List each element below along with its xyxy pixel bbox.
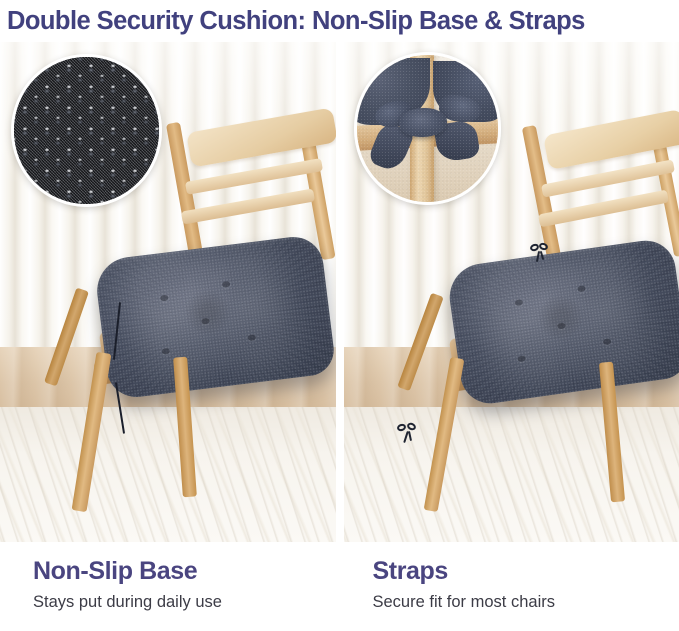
carpet: [344, 407, 679, 542]
page-title-bar: Double Security Cushion: Non-Slip Base &…: [0, 0, 679, 42]
caption-non-slip-base: Non-Slip Base Stays put during daily use: [0, 545, 340, 631]
left-scene: [0, 42, 336, 542]
right-scene: [344, 42, 679, 542]
caption-subtext: Stays put during daily use: [33, 590, 340, 614]
fabric-texture: [357, 55, 499, 202]
straps-panel: [344, 42, 679, 542]
product-infographic: Double Security Cushion: Non-Slip Base &…: [0, 0, 679, 631]
strap-tie-closeup: [354, 52, 502, 205]
caption-subtext: Secure fit for most chairs: [373, 590, 679, 614]
cushion-tuft: [514, 299, 523, 306]
seat-cushion: [93, 234, 336, 401]
bow-loop: [396, 423, 407, 432]
cushion-tuft: [603, 339, 612, 346]
panels-row: [0, 42, 679, 542]
cushion-tuft: [159, 295, 168, 302]
cushion-tuft: [201, 318, 210, 325]
caption-heading: Non-Slip Base: [33, 554, 340, 588]
bow-tail: [408, 431, 412, 441]
cushion-tuft: [247, 335, 256, 342]
bow-loop: [538, 242, 549, 252]
cushion-tuft: [161, 348, 170, 355]
cushion-tuft: [577, 286, 586, 293]
strap-bow-right: [397, 422, 419, 438]
carpet: [0, 407, 336, 542]
caption-heading: Straps: [373, 554, 679, 588]
strap-bow-left: [530, 242, 550, 258]
strap-closeup-scene: [357, 55, 499, 202]
bow-loop: [406, 421, 417, 431]
caption-straps: Straps Secure fit for most chairs: [340, 545, 679, 631]
non-slip-base-panel: [0, 42, 336, 542]
cushion-tuft: [222, 281, 231, 288]
page-title: Double Security Cushion: Non-Slip Base &…: [7, 7, 585, 36]
captions-row: Non-Slip Base Stays put during daily use…: [0, 545, 679, 631]
cushion-tuft: [557, 322, 566, 329]
non-slip-grip-closeup: [11, 54, 162, 207]
cushion-tuft: [518, 355, 527, 362]
grip-texture: [14, 57, 159, 204]
grip-dots-row-b: [14, 57, 159, 204]
